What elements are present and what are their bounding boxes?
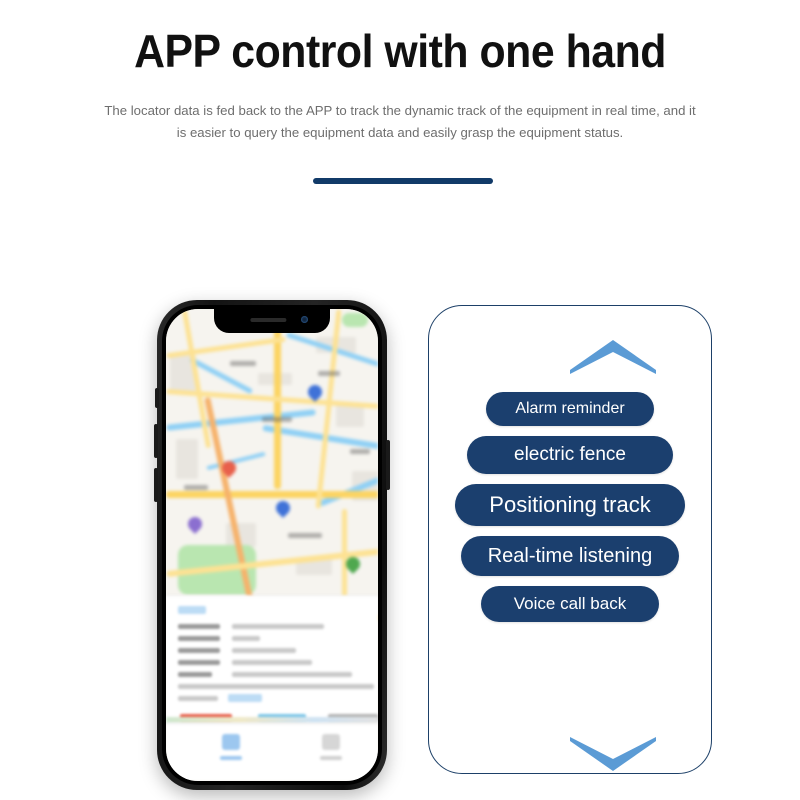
phone-power-button[interactable] [386,440,390,490]
phone-screen[interactable] [166,309,378,781]
feature-pill-positioning-track[interactable]: Positioning track [455,484,685,526]
phone-speaker [250,318,286,322]
app-tab-bar[interactable] [166,723,378,781]
tab-label-me [320,756,342,760]
title-divider [313,178,493,184]
feature-pill-voice-call-back[interactable]: Voice call back [481,586,659,622]
feature-pill-label: Real-time listening [488,545,653,568]
phone-volume-down-button[interactable] [154,468,158,502]
page-root: APP control with one hand The locator da… [0,0,800,800]
phone-notch [214,309,330,333]
feature-pill-label: Positioning track [489,492,650,518]
phone-front-camera-icon [301,316,308,323]
feature-pill-electric-fence[interactable]: electric fence [467,436,673,474]
phone-mockup [157,300,387,790]
feature-pill-label: Alarm reminder [515,400,624,418]
feature-pill-list: Alarm reminder electric fence Positionin… [429,392,711,632]
phone-volume-up-button[interactable] [154,424,158,458]
feature-pill-real-time-listening[interactable]: Real-time listening [461,536,679,576]
feature-pill-label: electric fence [514,444,626,466]
page-subtitle: The locator data is fed back to the APP … [100,100,700,144]
page-title: APP control with one hand [28,26,772,77]
phone-mute-button[interactable] [155,388,159,408]
feature-card: Alarm reminder electric fence Positionin… [428,305,712,774]
feature-pill-alarm-reminder[interactable]: Alarm reminder [486,392,654,426]
tab-icon-map[interactable] [222,734,240,750]
device-info-card[interactable] [166,595,378,723]
feature-pill-label: Voice call back [514,594,626,614]
tab-icon-me[interactable] [322,734,340,750]
tab-label-map [220,756,242,760]
